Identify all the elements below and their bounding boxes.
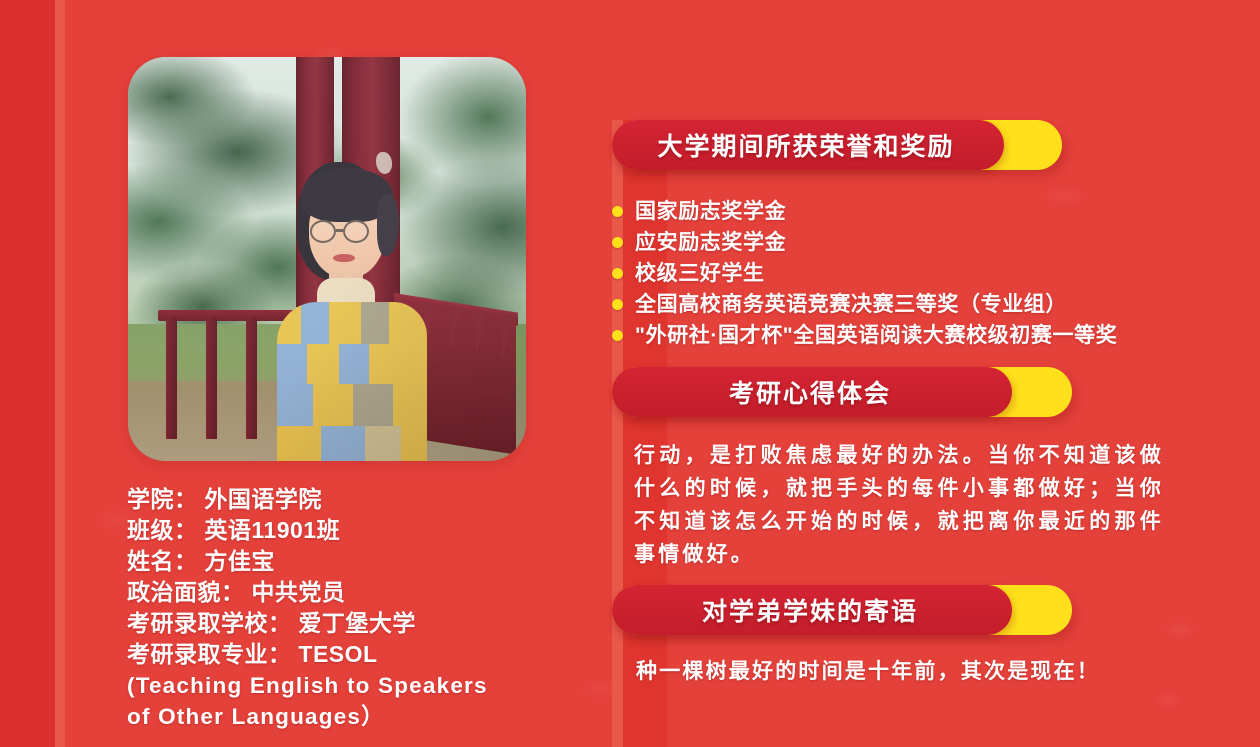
message-body: 种一棵树最好的时间是十年前，其次是现在！ [636,658,1182,686]
person-mouth [333,254,355,262]
person-glasses-bridge [336,229,343,232]
banner-experience: 考研心得体会 [612,367,1182,417]
left-edge-band [0,0,56,747]
profile-line-college: 学院： 外国语学院 [127,484,597,515]
photo-baluster [166,318,177,439]
banner-message: 对学弟学妹的寄语 [612,585,1182,635]
profile-line-name: 姓名： 方佳宝 [127,546,597,577]
honor-item: 国家励志奖学金 [612,199,1182,224]
honor-item-label: 校级三好学生 [635,261,765,286]
profile-line-major-en-1: (Teaching English to Speakers [127,670,597,701]
honors-list: 国家励志奖学金 应安励志奖学金 校级三好学生 全国高校商务英语竞赛决赛三等奖（专… [612,199,1182,348]
honor-item: 校级三好学生 [612,261,1182,286]
honor-item-label: 应安励志奖学金 [635,230,786,255]
banner-honors: 大学期间所获荣誉和奖励 [612,120,1182,170]
bullet-dot-icon [612,268,623,279]
profile-info: 学院： 外国语学院 班级： 英语11901班 姓名： 方佳宝 政治面貌： 中共党… [127,484,597,732]
banner-message-red-pill: 对学弟学妹的寄语 [612,585,1012,635]
bullet-dot-icon [612,206,623,217]
profile-line-major: 考研录取专业： TESOL [127,639,597,670]
honor-item: 应安励志奖学金 [612,230,1182,255]
photo-baluster [206,318,217,439]
banner-message-title: 对学弟学妹的寄语 [702,592,922,628]
person-glasses-left [310,220,336,243]
person-hair-front [301,168,393,222]
banner-honors-red-pill: 大学期间所获荣誉和奖励 [612,120,1004,170]
honor-item-label: "外研社·国才杯"全国英语阅读大赛校级初赛一等奖 [635,323,1117,348]
right-column: 大学期间所获荣誉和奖励 国家励志奖学金 应安励志奖学金 校级三好学生 全国高校商… [612,120,1182,686]
person-sweater [277,302,427,461]
photo-scene [128,57,526,461]
photo-baluster [246,318,257,439]
banner-honors-title: 大学期间所获荣誉和奖励 [657,127,958,163]
banner-experience-red-pill: 考研心得体会 [612,367,1012,417]
profile-line-school: 考研录取学校： 爱丁堡大学 [127,608,597,639]
student-photo [128,57,526,461]
photo-person [271,162,421,461]
bullet-dot-icon [612,237,623,248]
poster-root: 学院： 外国语学院 班级： 英语11901班 姓名： 方佳宝 政治面貌： 中共党… [0,0,1260,747]
banner-experience-title: 考研心得体会 [729,374,895,410]
profile-line-major-en-2: of Other Languages） [127,701,597,732]
bullet-dot-icon [612,330,623,341]
honor-item-label: 国家励志奖学金 [635,199,786,224]
profile-line-politics: 政治面貌： 中共党员 [127,577,597,608]
honor-item: 全国高校商务英语竞赛决赛三等奖（专业组） [612,292,1182,317]
experience-body: 行动，是打败焦虑最好的办法。当你不知道该做什么的时候，就把手头的每件小事都做好；… [634,439,1164,571]
person-glasses-right [343,220,369,243]
bullet-dot-icon [612,299,623,310]
left-edge-stripe [55,0,65,747]
honor-item-label: 全国高校商务英语竞赛决赛三等奖（专业组） [635,292,1067,317]
profile-line-class: 班级： 英语11901班 [127,515,597,546]
honor-item: "外研社·国才杯"全国英语阅读大赛校级初赛一等奖 [612,323,1182,348]
